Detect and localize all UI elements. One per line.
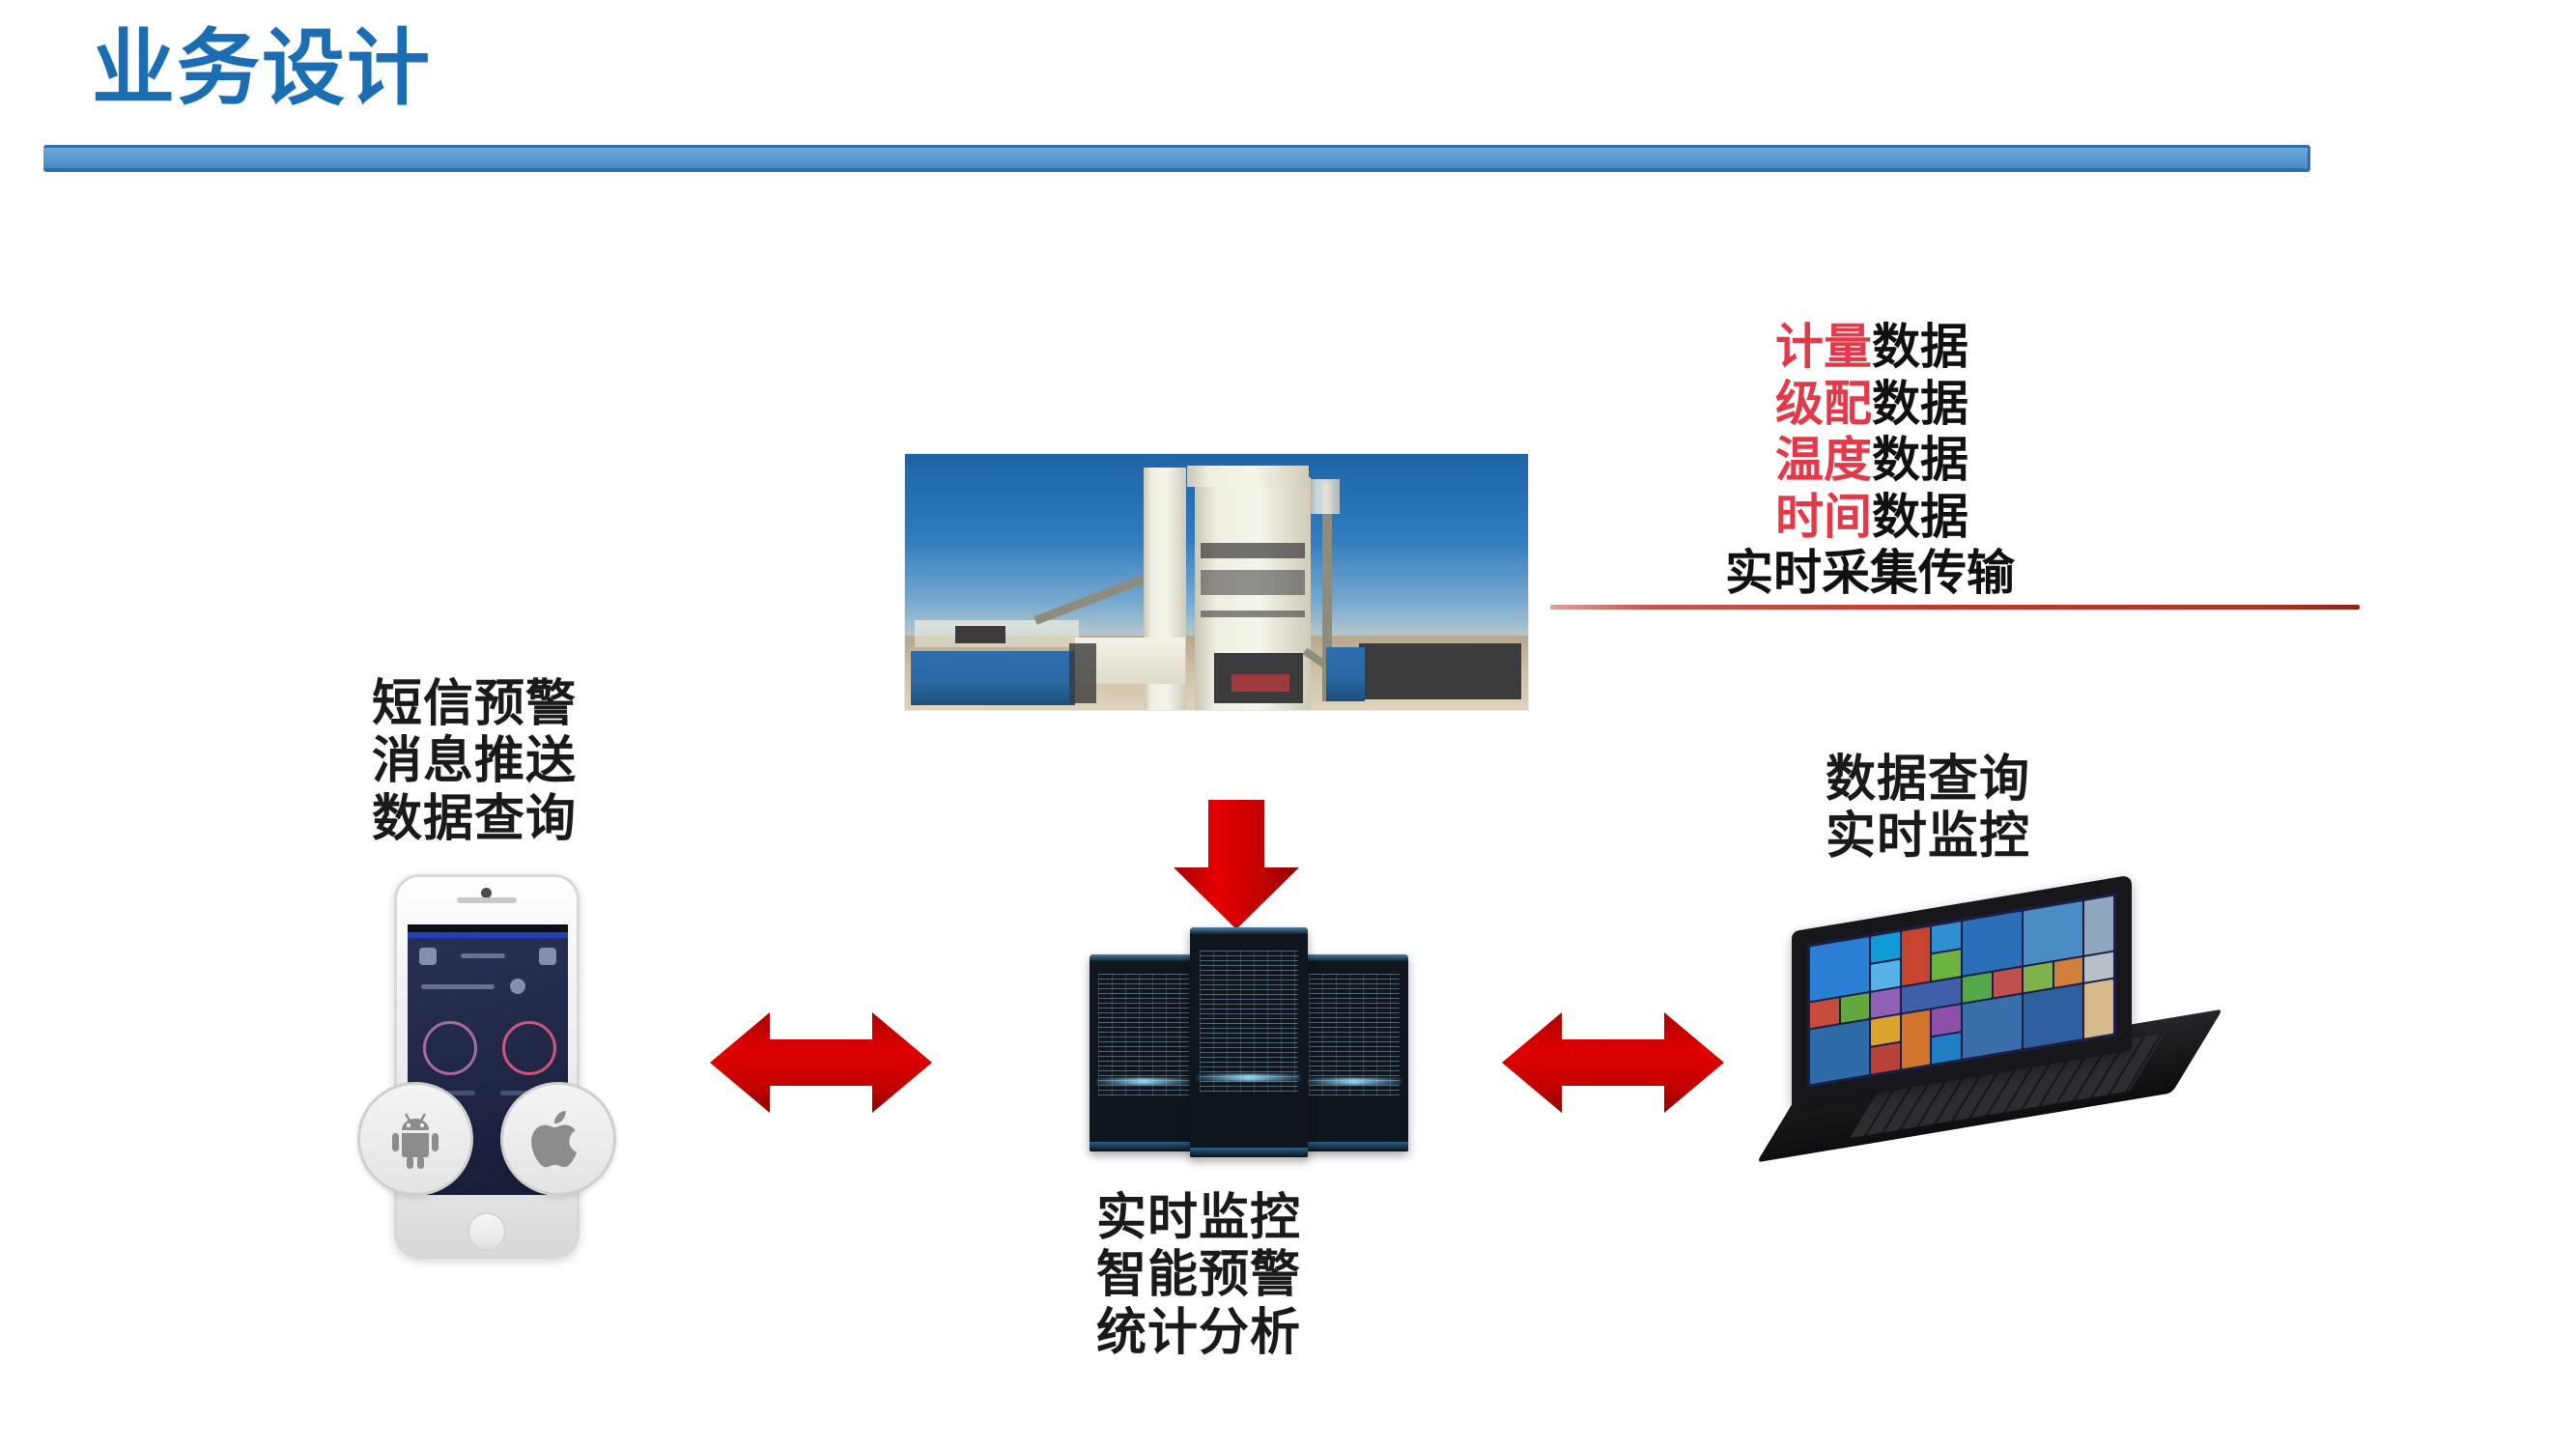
phone-gauge-right <box>502 1021 556 1075</box>
data-row-rest: 数据 <box>1872 319 1968 375</box>
phone-gauge-left <box>423 1021 477 1075</box>
data-list-block: 计量数据 级配数据 温度数据 时间数据 实时采集传输 <box>1775 319 2015 602</box>
data-block-underline <box>1550 605 2360 610</box>
windows-tile <box>1932 950 1961 980</box>
laptop-screen <box>1807 893 2116 1088</box>
windows-tile <box>1994 967 2023 998</box>
rack-top-cap <box>1300 954 1408 961</box>
rack-led-strip <box>1307 1078 1402 1085</box>
photo-tower-band-2 <box>1201 570 1305 595</box>
data-row-rest: 数据 <box>1872 432 1968 488</box>
windows-tile <box>1932 922 1961 952</box>
data-row: 时间数据 <box>1775 489 2015 546</box>
data-row-highlight: 时间 <box>1775 489 1872 545</box>
windows-tile <box>2024 962 2052 993</box>
windows-tile <box>1902 1010 1931 1069</box>
mobile-feature-line: 消息推送 <box>372 733 577 790</box>
server-feature-line: 统计分析 <box>1096 1305 1301 1362</box>
windows-tile <box>2084 952 2113 982</box>
slide-canvas: 业务设计 计量数据 级配数据 <box>0 0 2576 1449</box>
server-rack-right <box>1300 954 1408 1151</box>
server-racks-image <box>1090 927 1408 1159</box>
phone-home-button <box>467 1212 506 1251</box>
photo-blue-bin <box>1326 647 1365 701</box>
photo-stockpile-shed <box>1359 643 1521 699</box>
photo-tower-band-3 <box>1201 611 1305 617</box>
windows-tile <box>1963 972 1992 1003</box>
server-feature-line: 智能预警 <box>1096 1247 1301 1304</box>
rack-foot <box>1190 1148 1308 1157</box>
data-row: 级配数据 <box>1775 376 2015 433</box>
rack-top-cap <box>1190 927 1308 934</box>
pc-feature-line: 数据查询 <box>1826 752 2030 809</box>
laptop-image <box>1782 903 2217 1140</box>
windows-tile <box>1871 987 1900 1018</box>
arrow-right-container <box>1502 1005 1724 1124</box>
windows-tile <box>1902 926 1931 985</box>
photo-conveyor-head <box>955 626 1005 643</box>
phone-app-badge <box>510 979 525 994</box>
android-badge <box>357 1082 473 1196</box>
phone-app-title <box>461 953 505 958</box>
rack-vent-grid <box>1200 951 1298 1094</box>
windows-tile <box>1932 1006 1961 1037</box>
windows-tile <box>1932 1033 1961 1064</box>
arrow-bidirectional-icon <box>710 1005 932 1121</box>
photo-tower-cap <box>1187 466 1309 487</box>
windows-tile <box>1810 998 1839 1029</box>
data-row-rest: 数据 <box>1872 376 1968 432</box>
server-rack-center <box>1190 927 1308 1157</box>
windows-tile <box>1841 993 1870 1024</box>
data-row: 计量数据 <box>1775 319 2015 376</box>
windows-tile <box>2024 901 2082 965</box>
android-icon <box>384 1108 446 1170</box>
windows-tile <box>1963 912 2022 976</box>
windows-tile <box>2084 896 2113 955</box>
phone-app-subtitle <box>421 984 495 989</box>
phone-status-bar <box>408 924 568 932</box>
pc-feature-block: 数据查询 实时监控 <box>1826 752 2030 867</box>
data-footer: 实时采集传输 <box>1725 545 2015 602</box>
phone-nav-bar <box>408 932 568 938</box>
rack-led-strip <box>1096 1078 1192 1085</box>
data-row-highlight: 温度 <box>1775 432 1872 488</box>
arrow-down-container <box>1164 792 1309 941</box>
mobile-feature-line: 短信预警 <box>372 676 577 733</box>
server-rack-left <box>1090 954 1198 1151</box>
server-feature-block: 实时监控 智能预警 统计分析 <box>1096 1190 1301 1362</box>
windows-tile <box>1871 960 1900 991</box>
page-title: 业务设计 <box>92 27 432 110</box>
data-row-rest: 数据 <box>1872 489 1968 545</box>
apple-icon <box>528 1105 588 1173</box>
data-row-highlight: 级配 <box>1775 376 1872 432</box>
windows-tile <box>1871 1043 1900 1074</box>
windows-tile <box>2054 957 2083 988</box>
phone-app-icon <box>539 948 556 965</box>
rack-foot <box>1090 1142 1198 1151</box>
photo-blue-truck <box>911 651 1075 705</box>
windows-tile <box>2084 980 2113 1038</box>
arrow-left-container <box>710 1005 932 1124</box>
factory-plant-photo <box>905 454 1528 710</box>
photo-truck-body <box>1231 674 1289 692</box>
apple-badge <box>500 1082 616 1196</box>
windows-tile <box>1810 937 1869 1001</box>
rack-led-strip <box>1197 1074 1300 1081</box>
windows-tile <box>1871 932 1900 963</box>
phone-app-icon <box>419 948 437 965</box>
photo-cyclone <box>1311 479 1340 514</box>
windows-tile <box>2024 984 2082 1048</box>
data-row-highlight: 计量 <box>1775 319 1872 375</box>
photo-truck-cab <box>1069 643 1096 703</box>
mobile-feature-line: 数据查询 <box>372 791 577 848</box>
photo-tower-band-1 <box>1201 543 1305 558</box>
mobile-feature-block: 短信预警 消息推送 数据查询 <box>372 676 577 848</box>
windows-tile <box>1871 1015 1900 1046</box>
windows-tile <box>1963 995 2022 1059</box>
arrow-down-icon <box>1164 792 1309 937</box>
data-row: 温度数据 <box>1775 432 2015 489</box>
server-feature-line: 实时监控 <box>1096 1190 1301 1247</box>
pc-feature-line: 实时监控 <box>1826 809 2030 866</box>
rack-foot <box>1300 1142 1408 1151</box>
smartphone-image <box>357 874 616 1280</box>
title-underline-bar <box>43 145 2310 172</box>
phone-speaker <box>457 897 517 903</box>
windows-tile <box>1810 1020 1869 1084</box>
rack-top-cap <box>1090 954 1198 961</box>
arrow-bidirectional-icon <box>1502 1005 1724 1121</box>
